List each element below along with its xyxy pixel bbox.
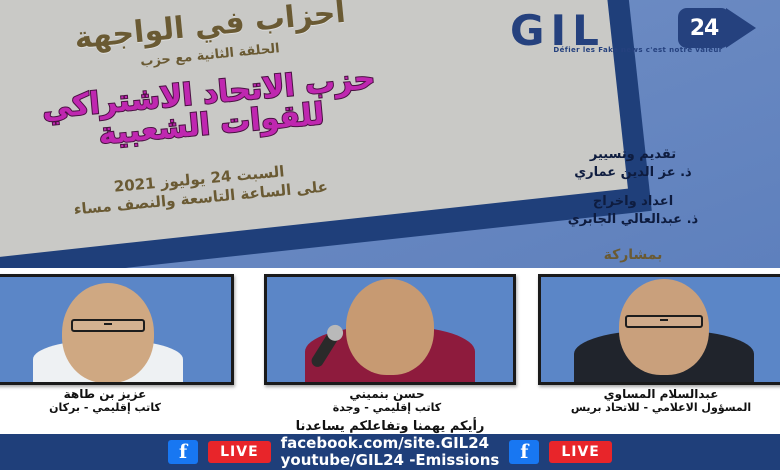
youtube-link[interactable]: youtube/GIL24 -Emissions	[281, 452, 500, 469]
glasses-icon-1	[71, 319, 145, 332]
guest-caption-3: عبدالسلام المساوي المسؤول الاعلامي - للا…	[538, 388, 780, 414]
guest-name-1: عزيز بن طاهة	[0, 388, 228, 402]
guest-card-1: عزيز بن طاهة كاتب إقليمي - بركان	[0, 274, 228, 414]
glasses-icon-3	[625, 315, 703, 328]
credits-block: تقديم وتسيير ذ. عز الدين عماري اعداد واخ…	[508, 146, 758, 240]
guest-name-3: عبدالسلام المساوي	[538, 388, 780, 402]
guest-photo-3	[538, 274, 780, 385]
live-badge-left[interactable]: LIVE	[208, 441, 271, 463]
footer-bar: f LIVE facebook.com/site.GIL24 youtube/G…	[0, 434, 780, 470]
facebook-icon-right[interactable]: f	[509, 440, 539, 464]
credit-director: اعداد واخراج ذ. عبدالعالي الجابري	[508, 193, 758, 228]
poster-root: أحزاب في الواجهة الحلقة الثانية مع حزب ح…	[0, 0, 780, 470]
credit-presenter-role: تقديم وتسيير	[508, 146, 758, 164]
facebook-link[interactable]: facebook.com/site.GIL24	[281, 435, 500, 452]
facebook-icon-left[interactable]: f	[168, 440, 198, 464]
guest-role-1: كاتب إقليمي - بركان	[0, 402, 228, 415]
guest-name-2: حسن بنميني	[264, 388, 510, 402]
guest-card-3: عبدالسلام المساوي المسؤول الاعلامي - للا…	[538, 274, 780, 414]
guest-caption-1: عزيز بن طاهة كاتب إقليمي - بركان	[0, 388, 228, 414]
guest-role-3: المسؤول الاعلامي - للاتحاد بريس	[538, 402, 780, 415]
credit-director-role: اعداد واخراج	[508, 193, 758, 211]
poster-banner: أحزاب في الواجهة الحلقة الثانية مع حزب ح…	[0, 0, 780, 268]
guest-photo-2	[264, 274, 516, 385]
live-badge-right[interactable]: LIVE	[549, 441, 612, 463]
portrait-head-1	[62, 283, 154, 383]
logo-tagline: Défier les Fake news c'est notre valeur	[530, 46, 746, 54]
credit-presenter-name: ذ. عز الدين عماري	[508, 164, 758, 182]
credit-director-name: ذ. عبدالعالي الجابري	[508, 211, 758, 229]
participation-label: بمشاركة	[508, 247, 758, 263]
guest-role-2: كاتب إقليمي - وجدة	[264, 402, 510, 415]
engagement-tagline: رأيكم يهمنا وتفاعلكم يساعدنا	[0, 419, 780, 434]
guests-row: عزيز بن طاهة كاتب إقليمي - بركان حسن بنم…	[0, 268, 780, 418]
logo-24-badge: 24	[678, 8, 756, 48]
logo-arrow-icon	[726, 8, 756, 48]
guest-photo-1	[0, 274, 234, 385]
credit-presenter: تقديم وتسيير ذ. عز الدين عماري	[508, 146, 758, 181]
guest-card-2: حسن بنميني كاتب إقليمي - وجدة	[264, 274, 510, 414]
portrait-head-2	[346, 279, 434, 375]
guest-caption-2: حسن بنميني كاتب إقليمي - وجدة	[264, 388, 510, 414]
logo-24-text: 24	[678, 8, 730, 48]
social-links: facebook.com/site.GIL24 youtube/GIL24 -E…	[281, 435, 500, 469]
gil24-logo: GIL 24 Défier les Fake news c'est notre …	[510, 4, 760, 60]
